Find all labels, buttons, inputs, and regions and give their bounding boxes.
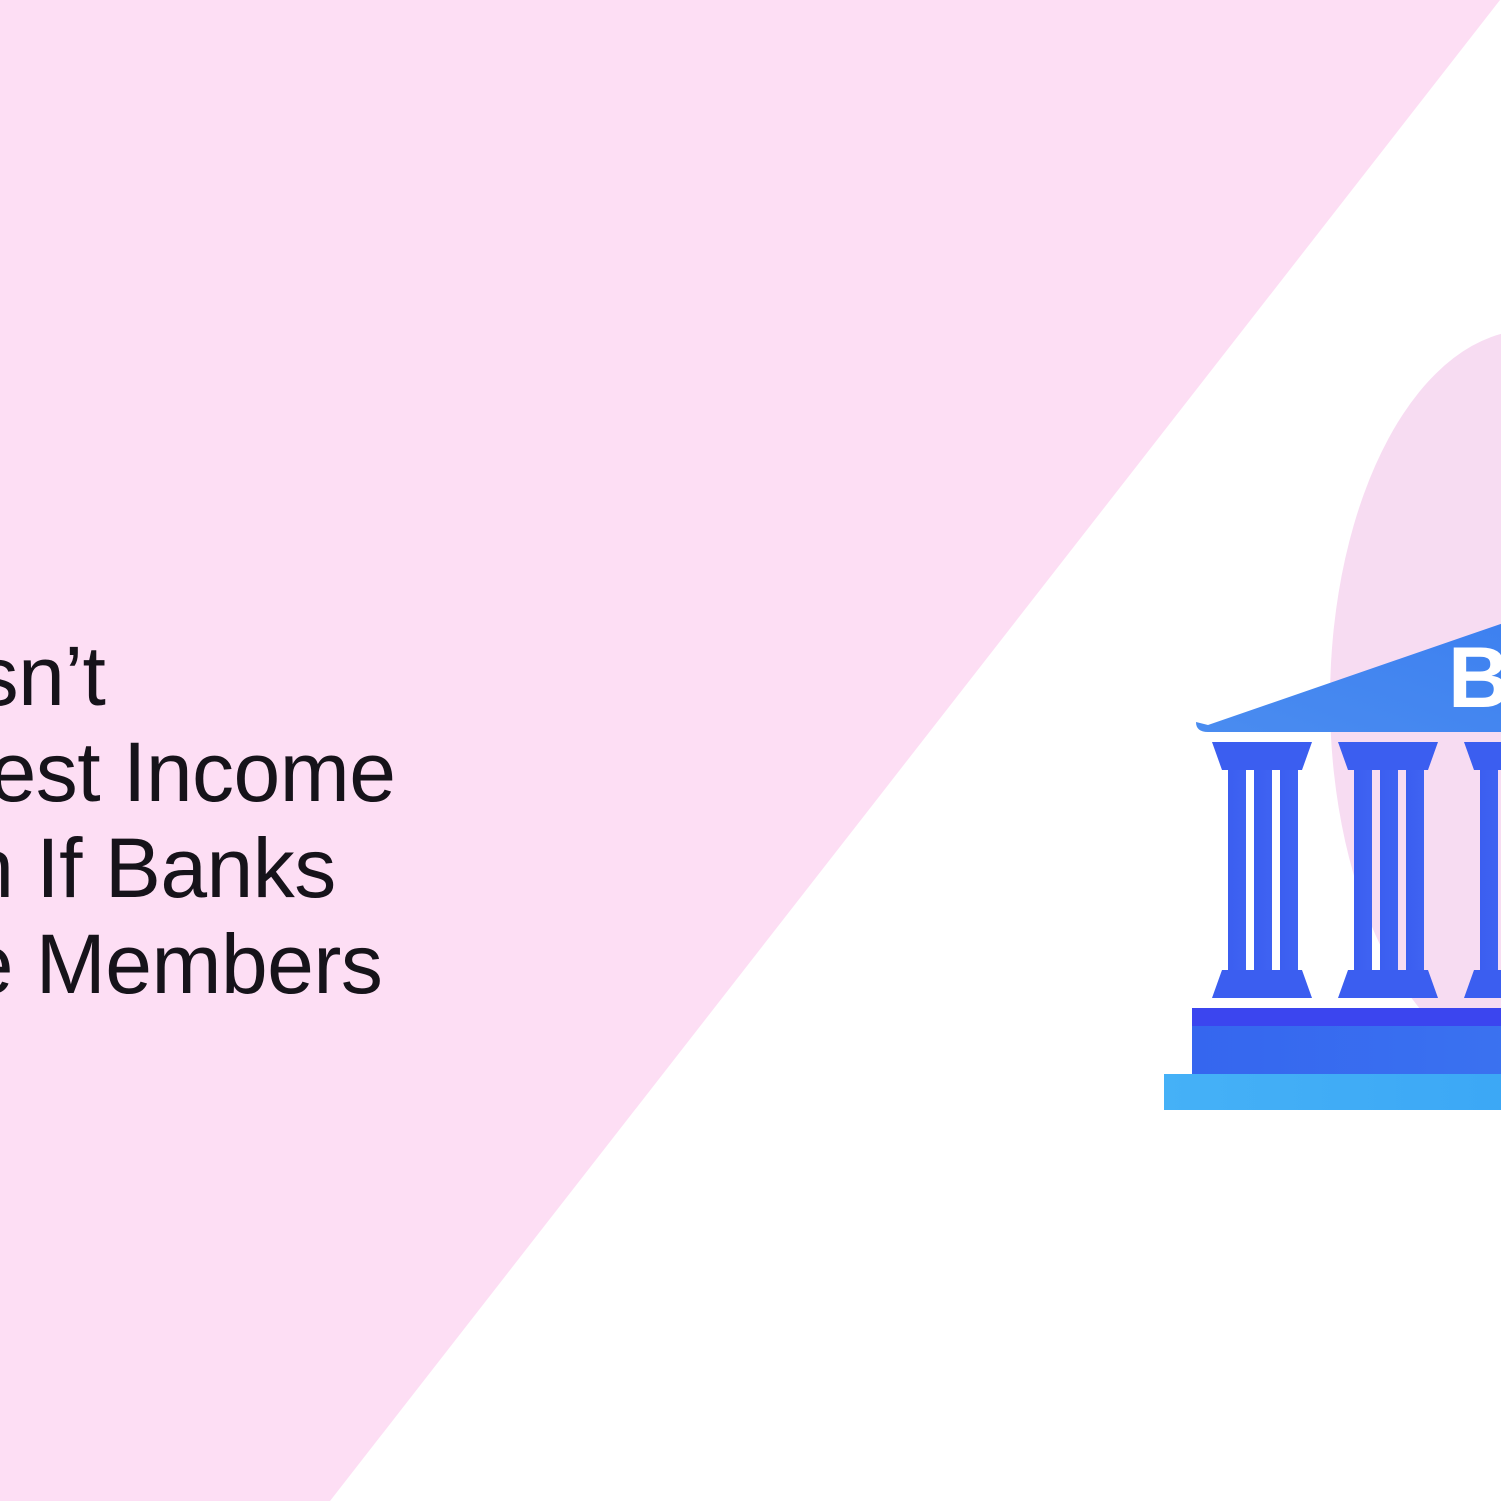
poster-canvas: Doesn’t Interest Income Even If Banks or…: [0, 0, 1501, 1501]
bank-columns: [1228, 770, 1501, 970]
headline-line-1: Doesn’t: [0, 628, 824, 724]
bank-building-icon: [1150, 470, 1501, 1250]
bank-roof-label: B: [1448, 635, 1501, 721]
bank-illustration: B: [1150, 470, 1501, 1250]
bank-column-capitals: [1212, 742, 1501, 770]
bank-plinth: [1164, 1008, 1501, 1110]
headline-line-4: orate Members: [0, 916, 824, 1012]
headline-line-2: Interest Income: [0, 724, 824, 820]
headline: Doesn’t Interest Income Even If Banks or…: [0, 628, 824, 1012]
headline-line-3: Even If Banks: [0, 820, 824, 916]
bank-column-bases: [1212, 970, 1501, 998]
